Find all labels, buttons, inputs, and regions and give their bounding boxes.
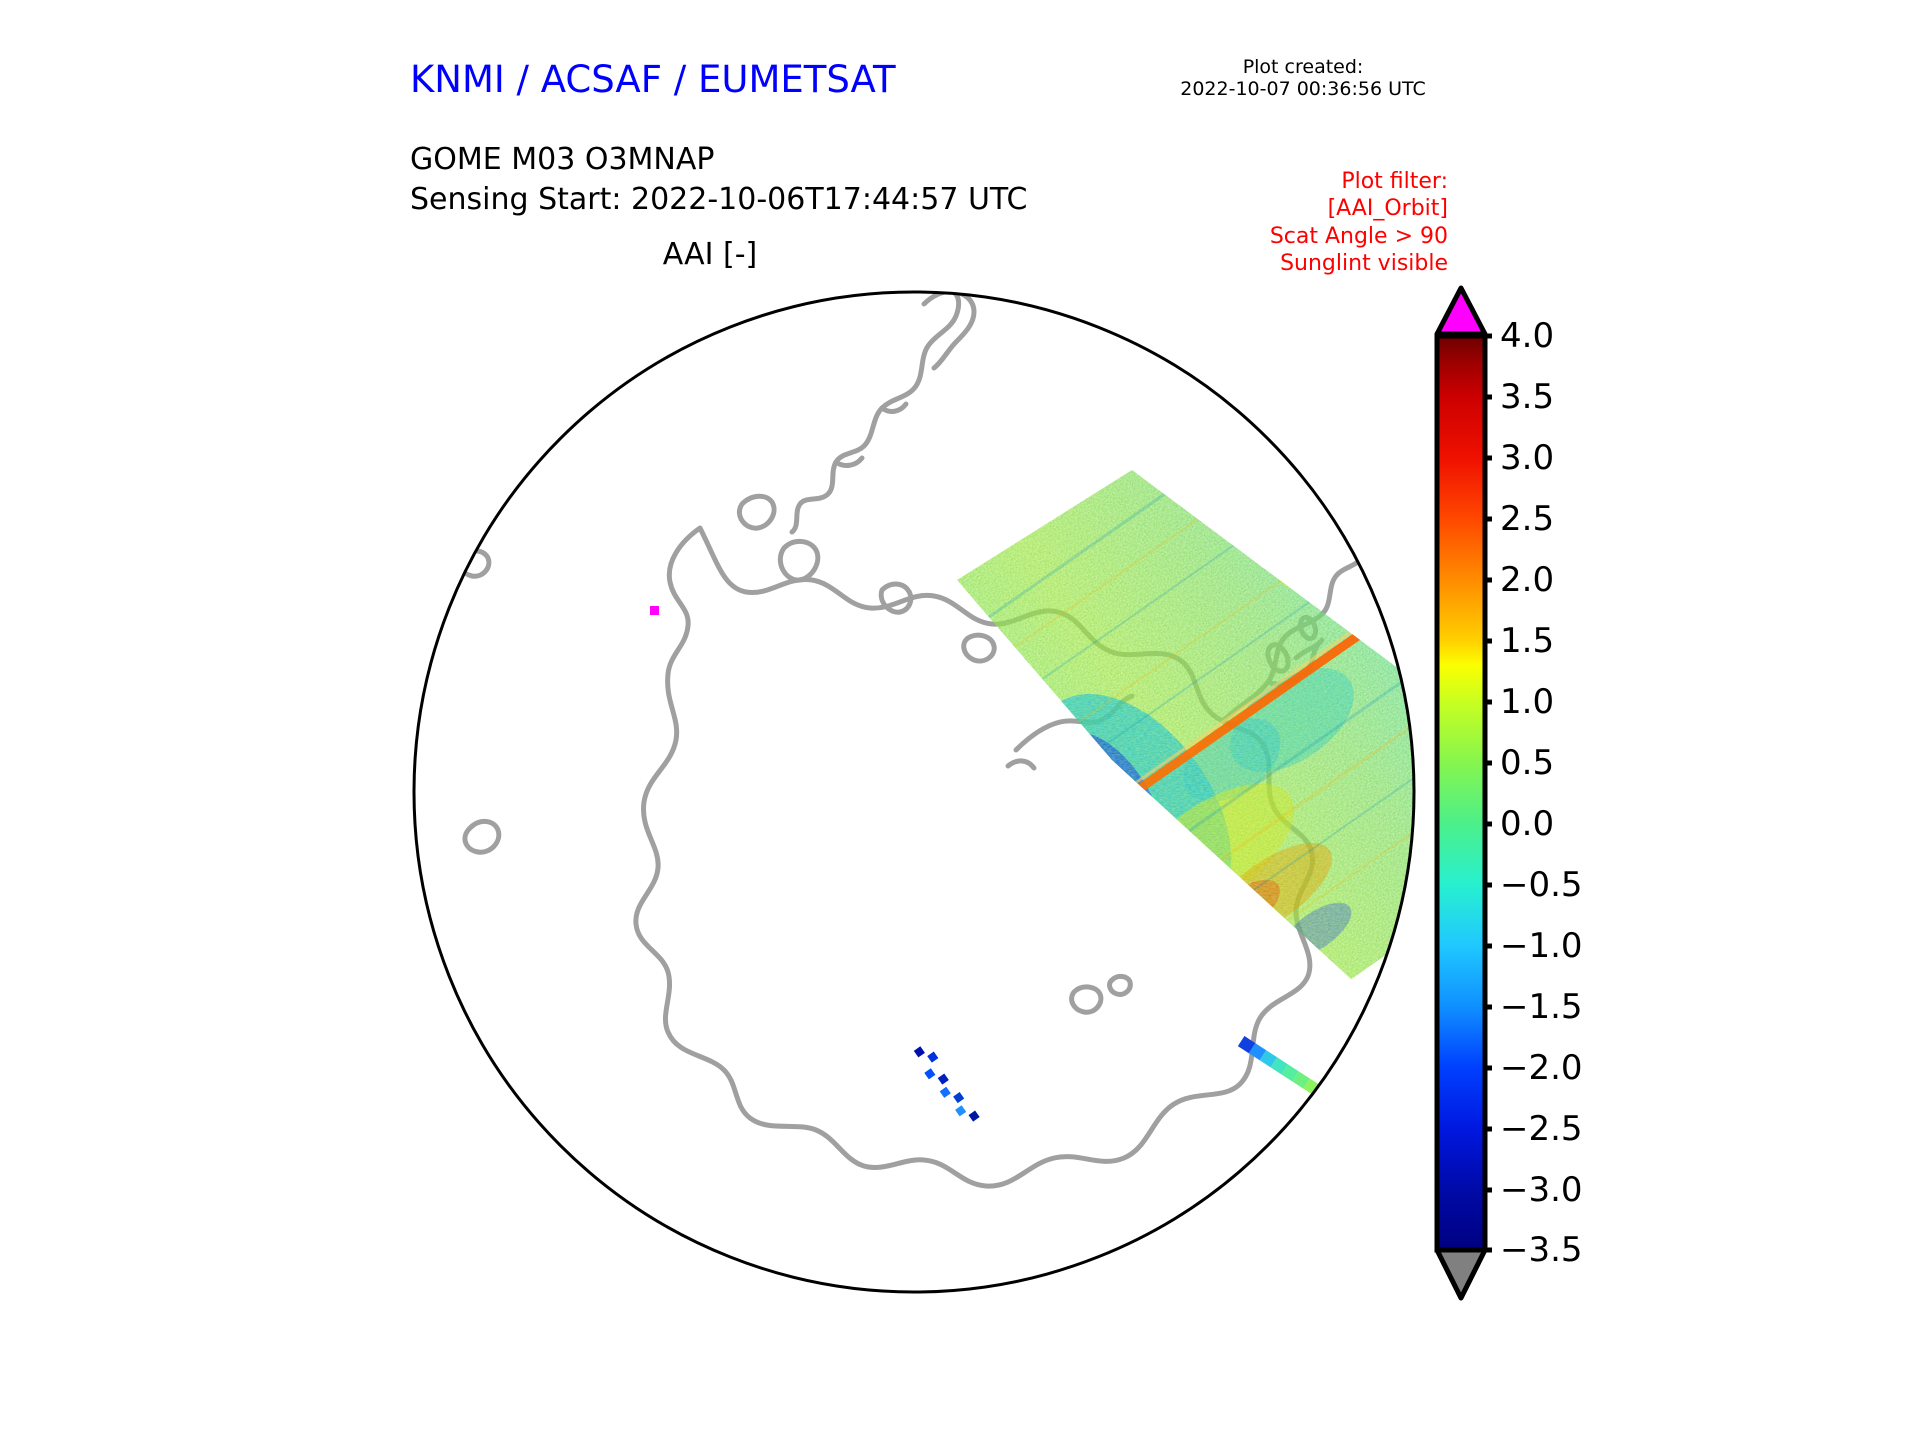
cb-tick-12: −2.0 [1500, 1048, 1583, 1088]
cb-tick-3: 2.5 [1500, 499, 1554, 539]
filter-line-2: [AAI_Orbit] [1148, 195, 1448, 222]
cb-tick-15: −3.5 [1500, 1230, 1583, 1270]
colorbar-over-arrow [1437, 288, 1485, 334]
cb-tick-10: −1.0 [1500, 926, 1583, 966]
colorbar-under-arrow [1437, 1250, 1485, 1298]
colorbar-gradient [1437, 336, 1485, 1250]
cb-tick-14: −3.0 [1500, 1170, 1583, 1210]
plot-created-label: Plot created: [1158, 56, 1448, 78]
cb-tick-9: −0.5 [1500, 865, 1583, 905]
cb-tick-6: 1.0 [1500, 682, 1554, 722]
plot-created-value: 2022-10-07 00:36:56 UTC [1158, 78, 1448, 100]
cb-tick-13: −2.5 [1500, 1109, 1583, 1149]
cb-tick-0: 4.0 [1500, 316, 1554, 356]
cb-tick-8: 0.0 [1500, 804, 1554, 844]
plot-canvas: KNMI / ACSAF / EUMETSAT Plot created: 20… [0, 0, 1920, 1440]
polar-map [412, 290, 1416, 1294]
colorbar [1432, 282, 1492, 1304]
plot-created-block: Plot created: 2022-10-07 00:36:56 UTC [1158, 56, 1448, 101]
cb-tick-1: 3.5 [1500, 377, 1554, 417]
plot-title-block: GOME M03 O3MNAP Sensing Start: 2022-10-0… [410, 140, 1027, 220]
cb-tick-7: 0.5 [1500, 743, 1554, 783]
cb-tick-5: 1.5 [1500, 621, 1554, 661]
colorbar-svg [1432, 282, 1492, 1304]
cb-tick-2: 3.0 [1500, 438, 1554, 478]
saturated-pixel [650, 606, 659, 615]
cb-tick-4: 2.0 [1500, 560, 1554, 600]
instrument-line: GOME M03 O3MNAP [410, 140, 1027, 180]
colorbar-tick-labels: 4.0 3.5 3.0 2.5 2.0 1.5 1.0 0.5 0.0 −0.5… [1500, 282, 1700, 1304]
filter-line-1: Plot filter: [1148, 168, 1448, 195]
cb-tick-11: −1.5 [1500, 987, 1583, 1027]
map-svg [412, 290, 1416, 1294]
plot-filter-block: Plot filter: [AAI_Orbit] Scat Angle > 90… [1148, 168, 1448, 277]
filter-line-3: Scat Angle > 90 [1148, 223, 1448, 250]
filter-line-4: Sunglint visible [1148, 250, 1448, 277]
organisation-title: KNMI / ACSAF / EUMETSAT [410, 58, 896, 101]
sensing-start-line: Sensing Start: 2022-10-06T17:44:57 UTC [410, 180, 1027, 220]
